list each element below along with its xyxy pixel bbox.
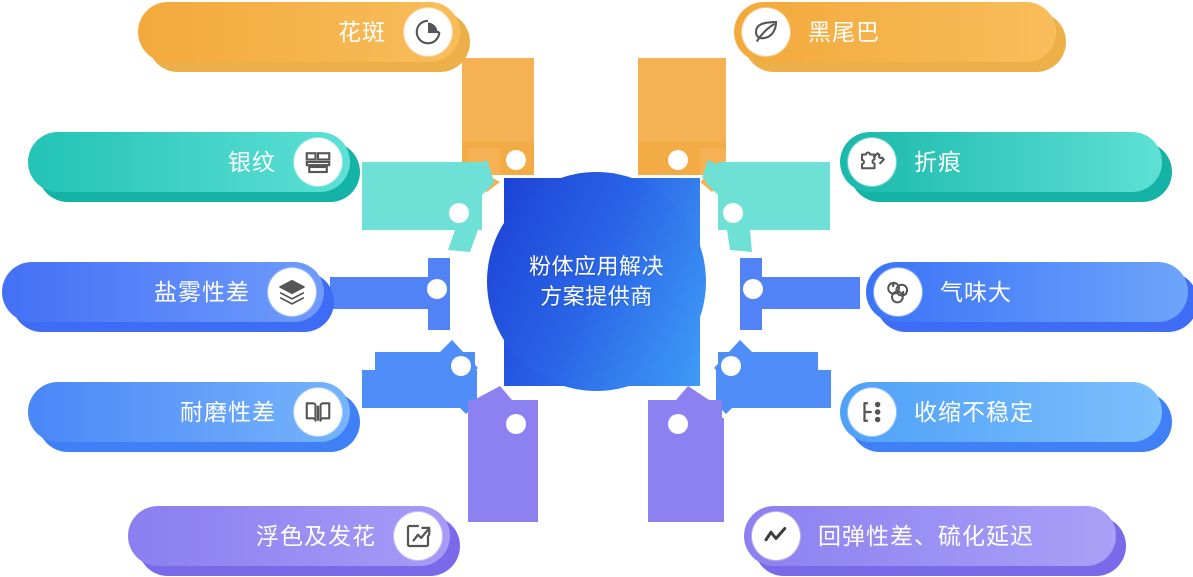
connector-bottom-left bbox=[468, 386, 538, 522]
hub-label: 粉体应用解决 方案提供商 bbox=[529, 252, 664, 312]
node-label: 收缩不稳定 bbox=[914, 401, 1034, 424]
trending-up-icon bbox=[394, 512, 442, 560]
node-shousuobuwending[interactable]: 收缩不稳定 bbox=[840, 382, 1162, 442]
connector-bottom-right bbox=[648, 386, 724, 522]
connector-top-left bbox=[462, 58, 534, 192]
node-zhehen[interactable]: 折痕 bbox=[840, 132, 1162, 192]
line-chart-icon bbox=[752, 512, 800, 560]
node-huitanxingcha-liuhuayanchi[interactable]: 回弹性差、硫化延迟 bbox=[744, 506, 1116, 566]
node-fusejifahua[interactable]: 浮色及发花 bbox=[128, 506, 450, 566]
node-heiweiba[interactable]: 黑尾巴 bbox=[734, 2, 1056, 62]
connector-lower-right bbox=[714, 340, 831, 414]
infographic-canvas: 粉体应用解决 方案提供商 花斑 银纹 盐雾性差 bbox=[0, 0, 1193, 577]
node-qiweida[interactable]: 气味大 bbox=[866, 262, 1188, 322]
brick-wall-icon bbox=[294, 138, 342, 186]
connector-middle-left bbox=[330, 258, 450, 330]
center-hub[interactable]: 粉体应用解决 方案提供商 bbox=[487, 172, 706, 391]
node-tree-icon bbox=[848, 388, 896, 436]
node-label: 浮色及发花 bbox=[256, 525, 376, 548]
layers-icon bbox=[268, 268, 316, 316]
pie-chart-icon bbox=[404, 8, 452, 56]
recycle-icon bbox=[874, 268, 922, 316]
connector-middle-right bbox=[740, 258, 860, 330]
node-huaban[interactable]: 花斑 bbox=[138, 2, 460, 62]
node-label: 盐雾性差 bbox=[154, 281, 250, 304]
node-label: 气味大 bbox=[940, 281, 1012, 304]
connector-top-right bbox=[638, 58, 730, 192]
node-naimoxingcha[interactable]: 耐磨性差 bbox=[28, 382, 350, 442]
node-label: 黑尾巴 bbox=[808, 21, 880, 44]
node-yanwuxingcha[interactable]: 盐雾性差 bbox=[2, 262, 324, 322]
open-book-icon bbox=[294, 388, 342, 436]
connector-upper-right bbox=[702, 160, 830, 252]
connector-upper-left bbox=[362, 160, 495, 252]
node-label: 耐磨性差 bbox=[180, 401, 276, 424]
node-yinwen[interactable]: 银纹 bbox=[28, 132, 350, 192]
leaf-icon bbox=[742, 8, 790, 56]
node-label: 折痕 bbox=[914, 151, 962, 174]
connector-lower-left bbox=[362, 340, 478, 414]
puzzle-piece-icon bbox=[848, 138, 896, 186]
node-label: 花斑 bbox=[338, 21, 386, 44]
node-label: 银纹 bbox=[228, 151, 276, 174]
node-label: 回弹性差、硫化延迟 bbox=[818, 525, 1034, 548]
